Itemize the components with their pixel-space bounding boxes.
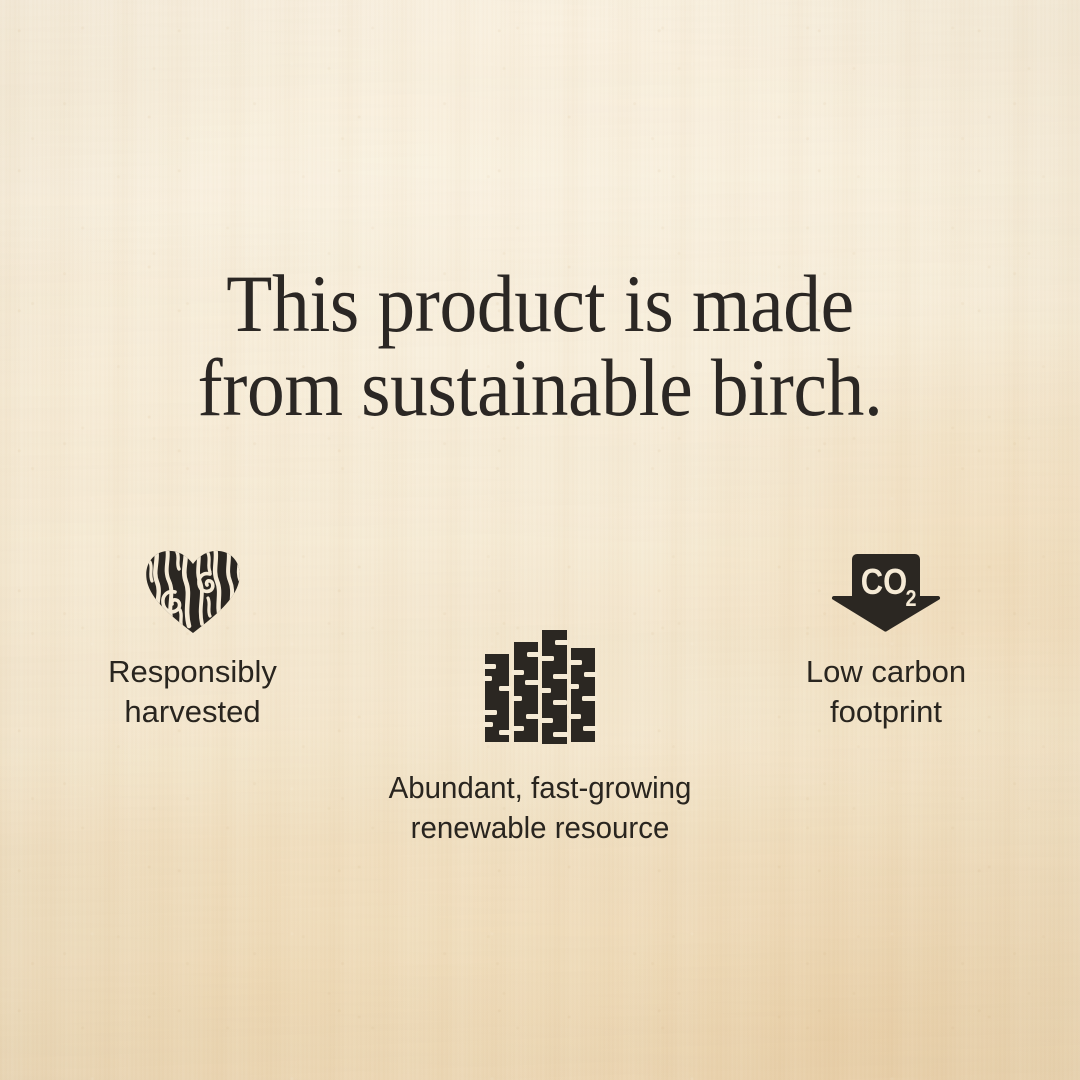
co2-down-arrow-icon: CO 2 — [762, 548, 1010, 634]
feature-responsibly-harvested: Responsibly harvested — [70, 548, 315, 733]
feature-caption: Low carbon footprint — [762, 652, 1010, 733]
birch-trunks-icon — [337, 626, 743, 748]
feature-abundant-renewable: Abundant, fast-growing renewable resourc… — [337, 626, 743, 849]
feature-low-carbon-footprint: CO 2 Low carbon footprint — [762, 548, 1010, 733]
sustainable-birch-infographic: This product is made from sustainable bi… — [0, 0, 1080, 1080]
co2-label: CO — [861, 563, 907, 603]
feature-caption: Responsibly harvested — [70, 652, 315, 733]
wood-grain-heart-icon — [70, 548, 315, 634]
page-title: This product is made from sustainable bi… — [43, 262, 1037, 429]
co2-subscript-label: 2 — [906, 586, 917, 612]
feature-caption: Abundant, fast-growing renewable resourc… — [347, 768, 733, 849]
